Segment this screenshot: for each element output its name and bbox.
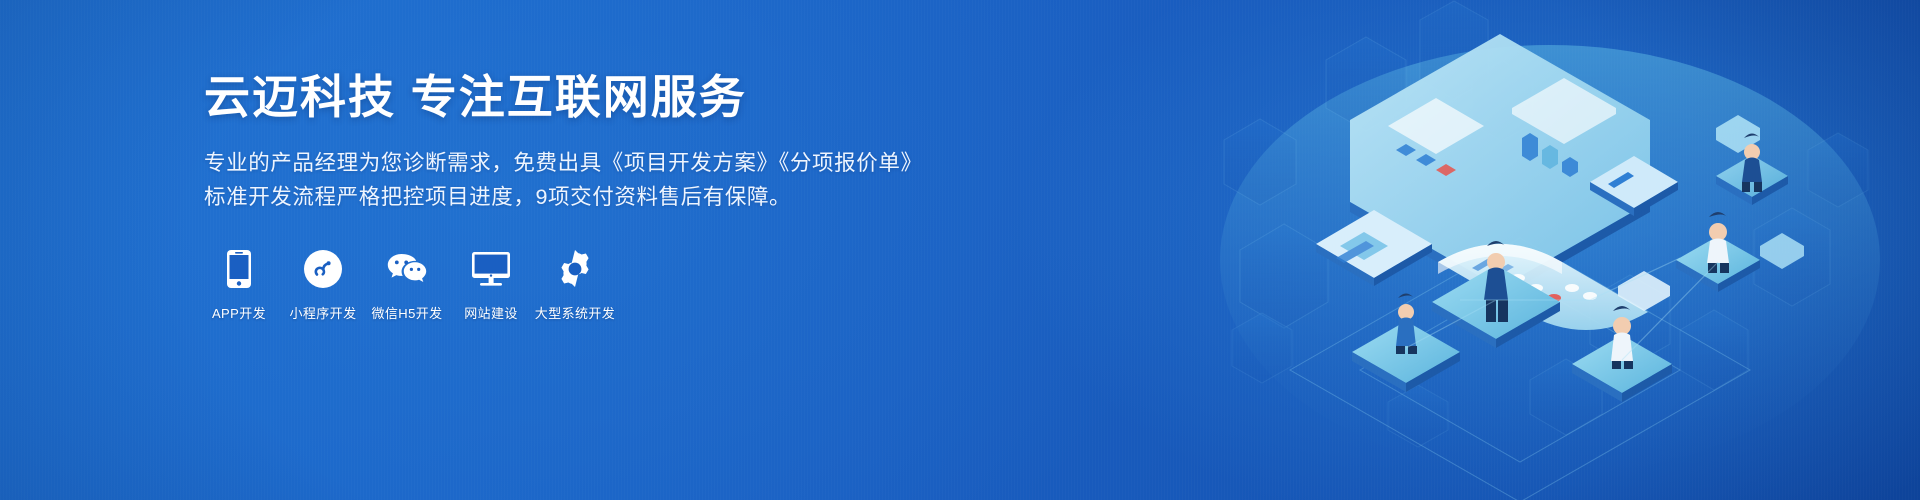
banner-subtitle: 专业的产品经理为您诊断需求，免费出具《项目开发方案》《分项报价单》 标准开发流程… <box>204 146 924 216</box>
service-label: APP开发 <box>212 303 266 322</box>
service-item-website[interactable]: 网站建设 <box>456 249 526 322</box>
service-item-app[interactable]: APP开发 <box>204 249 274 322</box>
service-label: 小程序开发 <box>289 303 356 322</box>
subtitle-line-2: 标准开发流程严格把控项目进度，9项交付资料售后有保障。 <box>204 180 924 215</box>
service-label: 网站建设 <box>464 303 518 322</box>
mini-program-icon <box>304 249 342 289</box>
banner-content: 云迈科技 专注互联网服务 专业的产品经理为您诊断需求，免费出具《项目开发方案》《… <box>204 72 924 322</box>
service-item-large-system[interactable]: 大型系统开发 <box>540 249 610 322</box>
service-list: APP开发 小程序开发 <box>204 249 924 322</box>
isometric-tech-illustration <box>1120 0 1920 500</box>
mobile-phone-icon <box>227 249 251 289</box>
page-title: 云迈科技 专注互联网服务 <box>204 72 924 124</box>
service-item-mini-program[interactable]: 小程序开发 <box>288 249 358 322</box>
illustration-container <box>1120 0 1920 500</box>
service-label: 微信H5开发 <box>371 303 442 322</box>
wechat-icon <box>386 249 428 289</box>
subtitle-line-1: 专业的产品经理为您诊断需求，免费出具《项目开发方案》《分项报价单》 <box>204 146 924 181</box>
hero-banner: 云迈科技 专注互联网服务 专业的产品经理为您诊断需求，免费出具《项目开发方案》《… <box>0 0 1920 500</box>
service-item-wechat-h5[interactable]: 微信H5开发 <box>372 249 442 322</box>
service-label: 大型系统开发 <box>535 303 615 322</box>
monitor-icon <box>472 249 510 289</box>
gear-icon <box>556 249 594 289</box>
